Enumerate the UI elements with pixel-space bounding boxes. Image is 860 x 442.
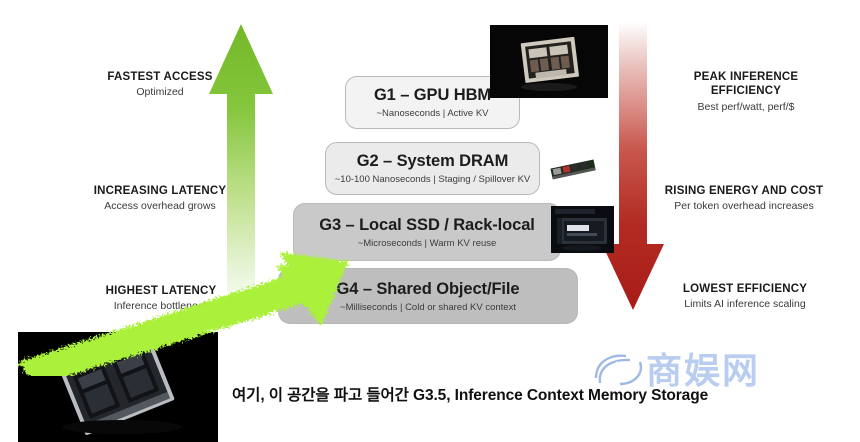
left-label-increasing-latency: INCREASING LATENCY Access overhead grows [82,184,238,214]
right-label-title-line2: EFFICIENCY [660,84,832,98]
right-label-lowest-efficiency: LOWEST EFFICIENCY Limits AI inference sc… [652,282,838,312]
right-label-title-line1: PEAK INFERENCE [660,70,832,84]
right-label-subtitle: Per token overhead increases [644,200,844,213]
tier-title: G1 – GPU HBM [374,86,491,105]
tier-box-g2[interactable]: G2 – System DRAM ~10-100 Nanoseconds | S… [325,142,540,195]
tier-title: G2 – System DRAM [357,152,509,171]
left-label-fastest-access: FASTEST ACCESS Optimized [90,70,230,100]
caption-text: 여기, 이 공간을 파고 들어간 G3.5, Inference Context… [232,383,708,405]
left-label-title: FASTEST ACCESS [90,70,230,84]
right-label-title-line1: RISING ENERGY AND COST [644,184,844,198]
right-label-title-line1: LOWEST EFFICIENCY [652,282,838,296]
right-label-peak-efficiency: PEAK INFERENCE EFFICIENCY Best perf/watt… [660,70,832,114]
slide-canvas: FASTEST ACCESS Optimized INCREASING LATE… [0,0,860,442]
tier-subtitle: ~10-100 Nanoseconds | Staging / Spillove… [335,174,531,185]
right-label-subtitle: Limits AI inference scaling [652,298,838,311]
right-label-rising-energy-cost: RISING ENERGY AND COST Per token overhea… [644,184,844,214]
tier-title: G3 – Local SSD / Rack-local [319,216,535,235]
green-highlight-arrow [0,236,400,376]
right-label-subtitle: Best perf/watt, perf/$ [660,101,832,114]
dram-module-photo [545,156,601,182]
left-label-subtitle: Optimized [90,86,230,99]
left-label-subtitle: Access overhead grows [82,200,238,213]
red-down-arrow [598,22,668,312]
left-label-title: INCREASING LATENCY [82,184,238,198]
ssd-rack-photo [551,206,614,253]
gpu-chip-photo [490,25,608,98]
tier-subtitle: ~Nanoseconds | Active KV [376,108,488,119]
